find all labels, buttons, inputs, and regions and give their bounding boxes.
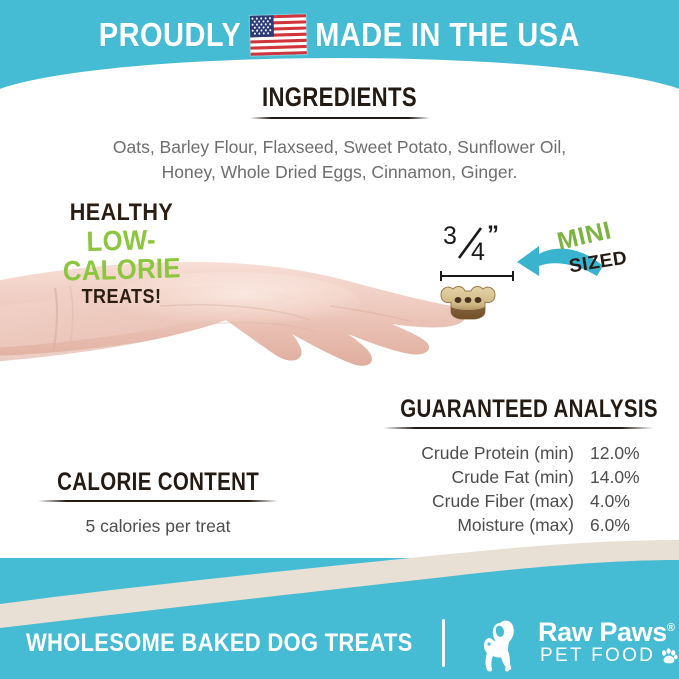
ingredients-list: Oats, Barley Flour, Flaxseed, Sweet Pota…	[0, 135, 679, 185]
guaranteed-analysis-title: GUARANTEED ANALYSIS	[400, 395, 658, 424]
usa-flag-icon	[250, 14, 307, 56]
header-title-prefix: PROUDLY	[99, 16, 241, 54]
measurement-inch-mark: ”	[487, 224, 499, 248]
ingredients-line-1: Oats, Barley Flour, Flaxseed, Sweet Pota…	[0, 135, 679, 160]
guaranteed-analysis-section: GUARANTEED ANALYSIS Crude Protein (min) …	[372, 395, 664, 537]
analysis-value: 4.0%	[590, 489, 664, 513]
analysis-label: Crude Fiber (max)	[372, 489, 590, 513]
paw-print-icon	[660, 647, 678, 665]
product-info-graphic: PROUDLY	[0, 0, 679, 679]
footer-divider	[442, 619, 445, 667]
guaranteed-analysis-underline	[383, 427, 653, 429]
analysis-label: Crude Fat (min)	[372, 465, 590, 489]
footer-tagline: WHOLESOME BAKED DOG TREATS	[26, 629, 413, 658]
ingredients-section: INGREDIENTS Oats, Barley Flour, Flaxseed…	[0, 82, 679, 185]
analysis-label: Crude Protein (min)	[372, 441, 590, 465]
calorie-content-body: 5 calories per treat	[24, 516, 292, 537]
analysis-label: Moisture (max)	[372, 513, 590, 537]
ingredients-underline	[250, 117, 430, 119]
brand-name: Raw Paws®	[538, 617, 675, 648]
header-title-suffix: MADE IN THE USA	[315, 16, 580, 54]
measurement-denominator: 4	[471, 238, 485, 264]
ingredients-title: INGREDIENTS	[262, 82, 417, 113]
registered-trademark-icon: ®	[667, 622, 675, 634]
header-title: PROUDLY	[99, 15, 580, 55]
brand-subtitle: PET FOOD	[540, 645, 678, 667]
header-banner: PROUDLY	[0, 0, 679, 70]
guaranteed-analysis-table: Crude Protein (min) 12.0% Crude Fat (min…	[372, 441, 664, 537]
table-row: Crude Protein (min) 12.0%	[372, 441, 664, 465]
dog-and-cat-silhouette-icon	[478, 617, 536, 673]
analysis-value: 12.0%	[590, 441, 664, 465]
healthy-line-3: TREATS!	[43, 287, 201, 308]
bone-shaped-treat	[437, 281, 499, 328]
calorie-content-underline	[38, 500, 278, 502]
analysis-value: 6.0%	[590, 513, 664, 537]
healthy-line-2: LOW-CALORIE	[40, 224, 202, 287]
analysis-value: 14.0%	[590, 465, 664, 489]
healthy-line-1: HEALTHY	[43, 200, 201, 225]
brand-subtitle-text: PET FOOD	[540, 645, 655, 667]
measurement-numerator: 3	[443, 224, 457, 250]
calorie-content-section: CALORIE CONTENT 5 calories per treat	[24, 468, 292, 537]
healthy-low-calorie-callout: HEALTHY LOW-CALORIE TREATS!	[34, 200, 209, 308]
table-row: Crude Fat (min) 14.0%	[372, 465, 664, 489]
calorie-content-title: CALORIE CONTENT	[57, 468, 259, 497]
mini-sized-callout: MINI SIZED	[525, 222, 635, 284]
ingredients-line-2: Honey, Whole Dried Eggs, Cinnamon, Ginge…	[0, 160, 679, 185]
brand-logo[interactable]: Raw Paws® PET FOOD	[478, 615, 668, 673]
table-row: Crude Fiber (max) 4.0%	[372, 489, 664, 513]
table-row: Moisture (max) 6.0%	[372, 513, 664, 537]
footer-banner: WHOLESOME BAKED DOG TREATS Raw Paws® PET…	[0, 607, 679, 679]
brand-name-text: Raw Paws	[538, 617, 667, 647]
